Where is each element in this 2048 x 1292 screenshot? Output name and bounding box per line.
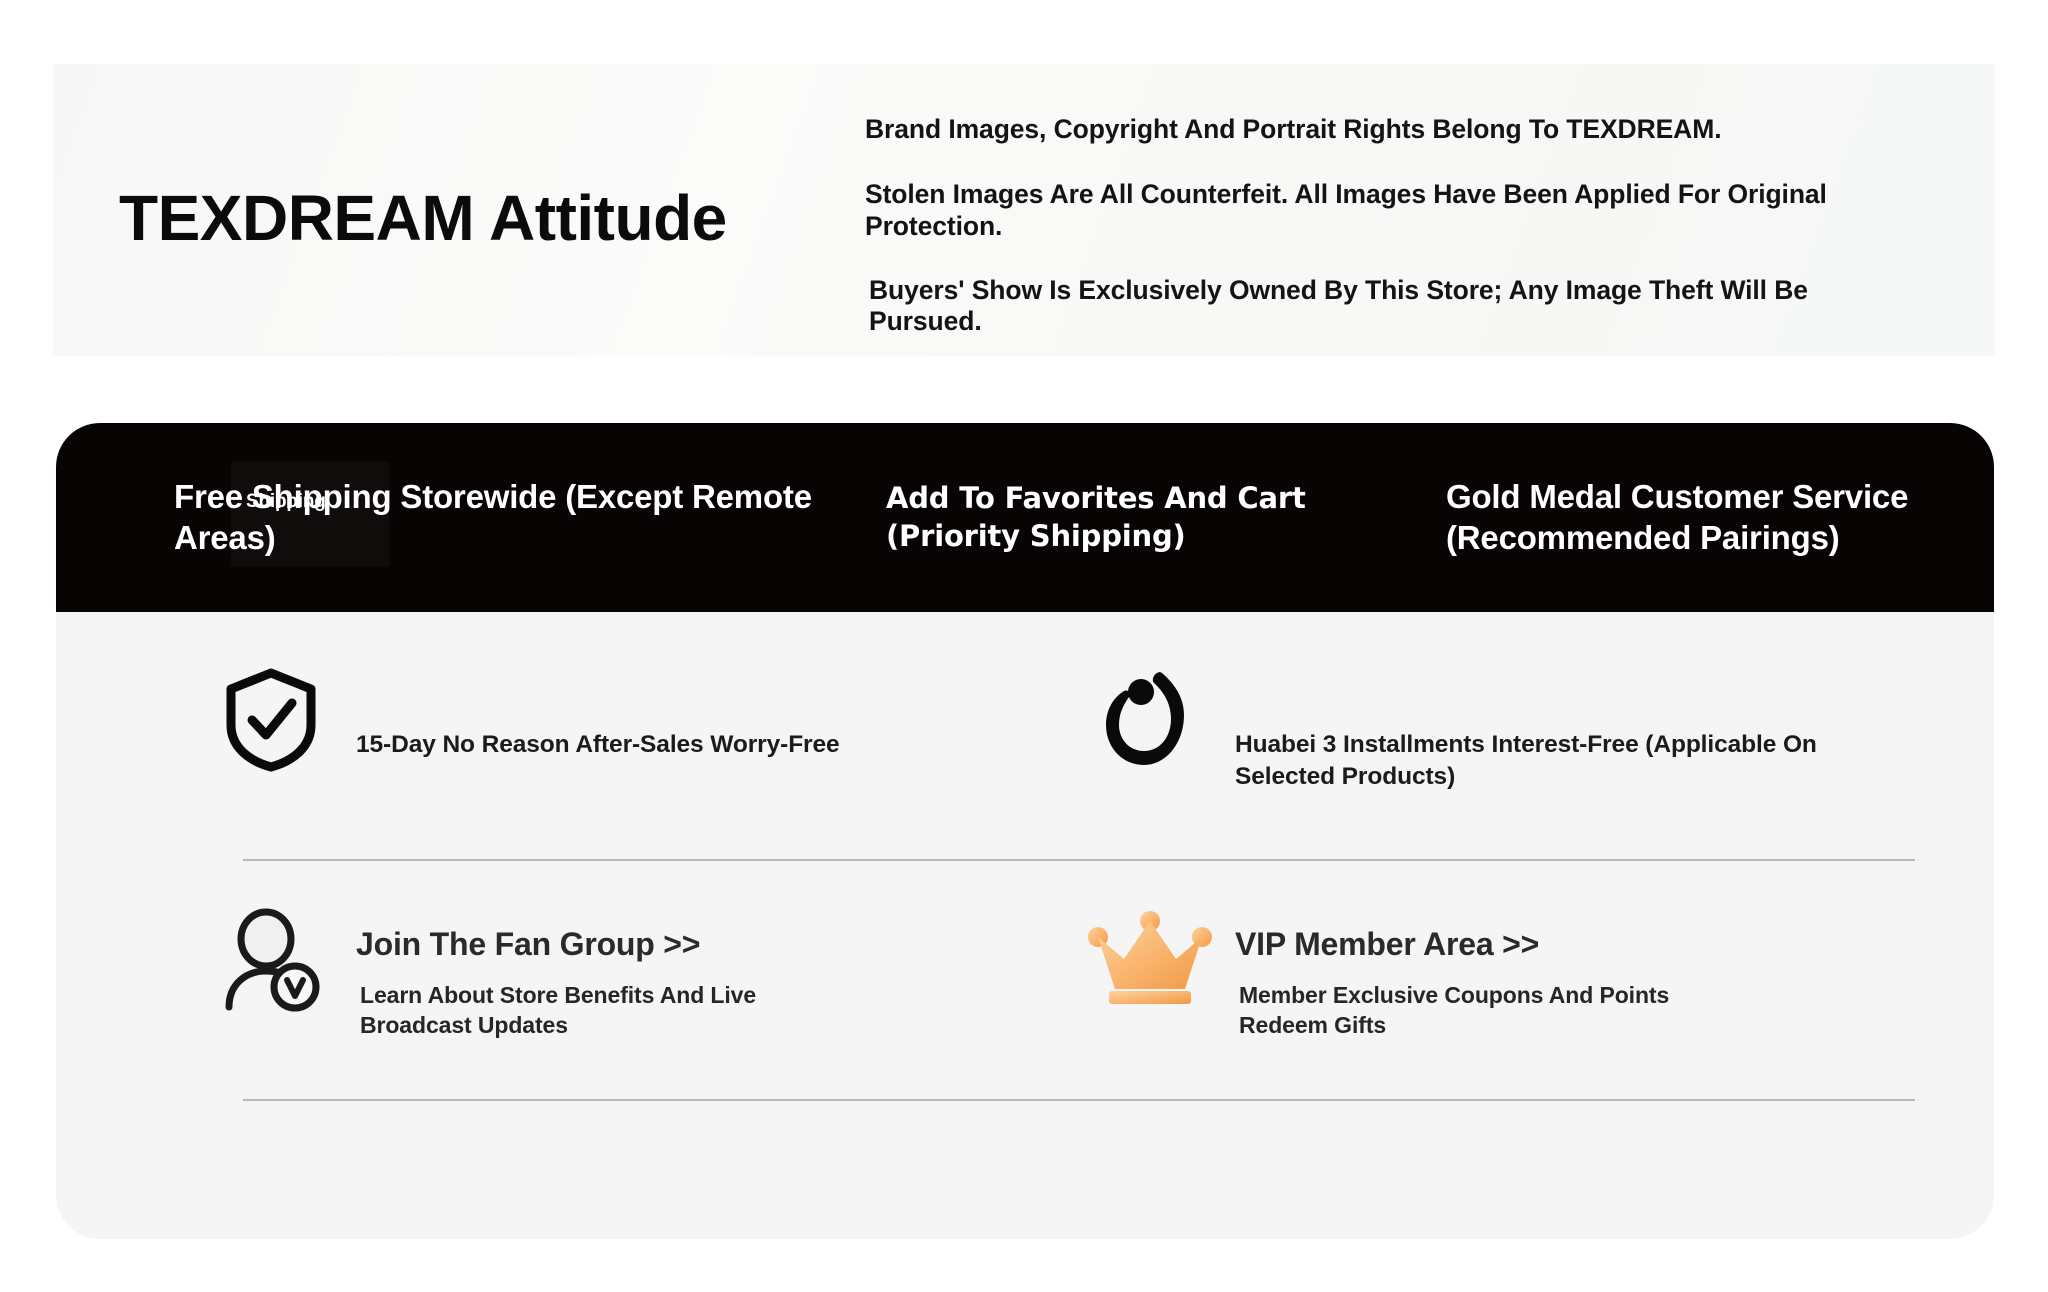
- copyright-notice: Brand Images, Copyright And Portrait Rig…: [865, 114, 1925, 337]
- shield-check-icon: [186, 667, 356, 773]
- benefit-huabei[interactable]: Huabei 3 Installments Interest-Free (App…: [1025, 667, 1994, 867]
- benefit-fan-group-text-wrap: Join The Fan Group >> Learn About Store …: [356, 907, 1025, 1040]
- notice-line-3: Buyers' Show Is Exclusively Owned By Thi…: [865, 275, 1925, 338]
- benefit-vip-area[interactable]: VIP Member Area >> Member Exclusive Coup…: [1025, 907, 1994, 1107]
- benefit-row-2: Join The Fan Group >> Learn About Store …: [56, 907, 1994, 1107]
- banner-item-customer-service-label: Gold Medal Customer Service (Recommended…: [1446, 477, 1926, 558]
- benefit-after-sales-text: 15-Day No Reason After-Sales Worry-Free: [356, 685, 956, 761]
- huabei-alipay-icon: [1065, 667, 1235, 775]
- user-verified-icon: [186, 907, 356, 1015]
- divider-1: [243, 859, 1915, 861]
- benefit-fan-group-subtitle: Learn About Store Benefits And Live Broa…: [356, 981, 796, 1040]
- banner-item-free-shipping[interactable]: Free Shipping Storewide (Except Remote A…: [174, 423, 814, 612]
- benefit-huabei-text: Huabei 3 Installments Interest-Free (App…: [1235, 685, 1835, 793]
- notice-line-2: Stolen Images Are All Counterfeit. All I…: [865, 179, 1925, 242]
- benefit-after-sales-text-wrap: 15-Day No Reason After-Sales Worry-Free: [356, 667, 1025, 761]
- service-banner: Free Shipping Storewide (Except Remote A…: [56, 423, 1994, 612]
- benefit-vip-area-title[interactable]: VIP Member Area >>: [1235, 925, 1994, 963]
- notice-line-1: Brand Images, Copyright And Portrait Rig…: [865, 114, 1925, 145]
- benefit-fan-group-title[interactable]: Join The Fan Group >>: [356, 925, 1025, 963]
- page-title: TEXDREAM Attitude: [119, 181, 727, 255]
- banner-item-customer-service[interactable]: Gold Medal Customer Service (Recommended…: [1446, 423, 1926, 612]
- benefit-vip-area-text-wrap: VIP Member Area >> Member Exclusive Coup…: [1235, 907, 1994, 1040]
- benefit-fan-group[interactable]: Join The Fan Group >> Learn About Store …: [56, 907, 1025, 1107]
- page-root: TEXDREAM Attitude Brand Images, Copyrigh…: [0, 0, 2048, 1292]
- banner-item-favorites-cart[interactable]: Add To Favorites And Cart (Priority Ship…: [886, 423, 1366, 612]
- crown-icon: [1065, 907, 1235, 1011]
- benefits-section: 15-Day No Reason After-Sales Worry-Free …: [56, 612, 1994, 1239]
- benefit-row-1: 15-Day No Reason After-Sales Worry-Free …: [56, 667, 1994, 867]
- benefit-after-sales[interactable]: 15-Day No Reason After-Sales Worry-Free: [56, 667, 1025, 867]
- service-card: Free Shipping Storewide (Except Remote A…: [56, 423, 1994, 1239]
- benefit-huabei-text-wrap: Huabei 3 Installments Interest-Free (App…: [1235, 667, 1994, 793]
- benefit-vip-area-subtitle: Member Exclusive Coupons And Points Rede…: [1235, 981, 1675, 1040]
- shipping-label: Shipping: [246, 491, 326, 513]
- banner-item-favorites-cart-label: Add To Favorites And Cart (Priority Ship…: [886, 480, 1366, 555]
- brand-band: TEXDREAM Attitude Brand Images, Copyrigh…: [53, 64, 1995, 356]
- divider-2: [243, 1099, 1915, 1101]
- banner-item-free-shipping-label: Free Shipping Storewide (Except Remote A…: [174, 477, 814, 558]
